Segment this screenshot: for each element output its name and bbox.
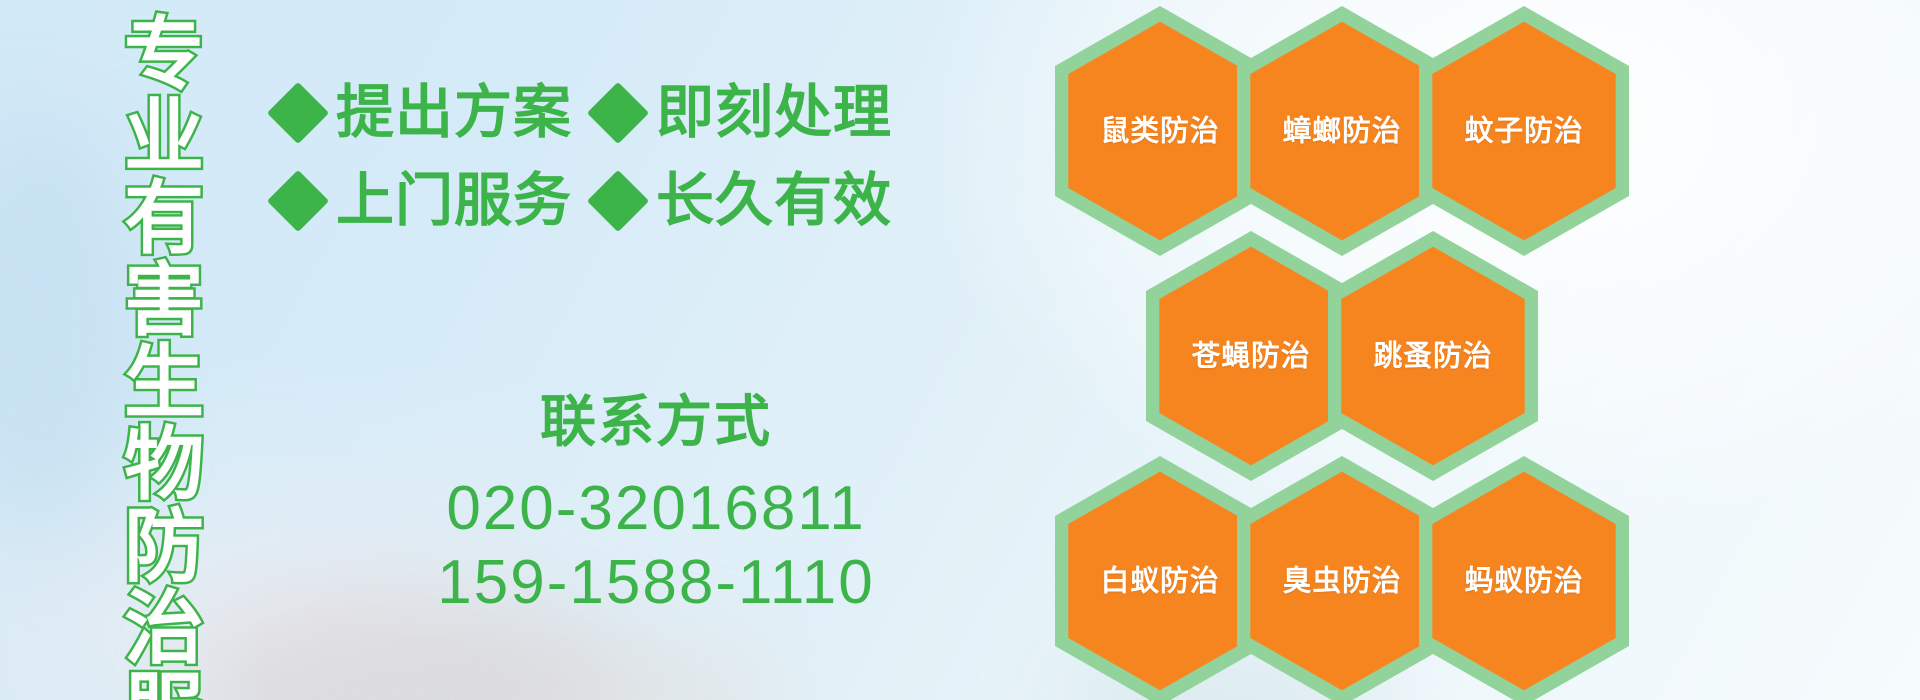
vertical-headline-char: 害 bbox=[124, 260, 204, 342]
vertical-headline-char: 专 bbox=[124, 14, 204, 96]
background-blur-bottom-center bbox=[520, 640, 780, 700]
hex-cell-fly[interactable]: 苍蝇防治 bbox=[1146, 231, 1356, 481]
diamond-icon bbox=[267, 82, 329, 144]
vertical-headline-char: 防 bbox=[124, 506, 204, 588]
hex-cell-rodent[interactable]: 鼠类防治 bbox=[1055, 6, 1265, 256]
hex-label: 蟑螂防治 bbox=[1283, 115, 1402, 147]
hex-cell-mosquito[interactable]: 蚊子防治 bbox=[1419, 6, 1629, 256]
hex-cell-bedbug[interactable]: 臭虫防治 bbox=[1237, 456, 1447, 700]
feature-label: 长久有效 bbox=[656, 170, 892, 232]
feature-row: 提出方案 即刻处理 bbox=[276, 82, 1036, 144]
promo-banner: 专 业 有 害 生 物 防 治 服 务 提出方案 即刻处理 上门服务 bbox=[0, 0, 1920, 700]
feature-row: 上门服务 长久有效 bbox=[276, 170, 1036, 232]
vertical-headline: 专 业 有 害 生 物 防 治 服 务 bbox=[112, 14, 216, 686]
diamond-icon bbox=[587, 82, 649, 144]
hex-cell-ant[interactable]: 蚂蚁防治 bbox=[1419, 456, 1629, 700]
hex-cell-cockroach[interactable]: 蟑螂防治 bbox=[1237, 6, 1447, 256]
contact-heading: 联系方式 bbox=[276, 390, 1036, 454]
feature-list: 提出方案 即刻处理 上门服务 长久有效 bbox=[276, 82, 1036, 258]
vertical-headline-char: 业 bbox=[124, 96, 204, 178]
contact-phone-mobile[interactable]: 159-1588-1110 bbox=[276, 546, 1036, 620]
feature-label: 即刻处理 bbox=[656, 82, 892, 144]
vertical-headline-char: 服 bbox=[124, 670, 204, 700]
hex-label: 蚊子防治 bbox=[1465, 115, 1584, 147]
hex-label: 白蚁防治 bbox=[1101, 565, 1220, 597]
feature-label: 提出方案 bbox=[336, 82, 572, 144]
vertical-headline-char: 有 bbox=[124, 178, 204, 260]
contact-phone-landline[interactable]: 020-32016811 bbox=[276, 472, 1036, 546]
contact-block: 联系方式 020-32016811 159-1588-1110 bbox=[276, 390, 1036, 620]
hex-label: 苍蝇防治 bbox=[1192, 340, 1311, 372]
diamond-icon bbox=[587, 170, 649, 232]
feature-item: 长久有效 bbox=[596, 170, 892, 232]
feature-item: 即刻处理 bbox=[596, 82, 892, 144]
feature-item: 提出方案 bbox=[276, 82, 572, 144]
hex-label: 臭虫防治 bbox=[1283, 565, 1402, 597]
diamond-icon bbox=[267, 170, 329, 232]
hex-label: 蚂蚁防治 bbox=[1465, 565, 1584, 597]
vertical-headline-char: 治 bbox=[124, 588, 204, 670]
vertical-headline-char: 物 bbox=[124, 424, 204, 506]
service-hex-grid: 鼠类防治 蟑螂防治 蚊子防治 苍蝇防治 跳蚤防治 bbox=[1055, 0, 1920, 700]
feature-label: 上门服务 bbox=[336, 170, 572, 232]
hex-label: 鼠类防治 bbox=[1101, 115, 1220, 147]
hex-label: 跳蚤防治 bbox=[1374, 340, 1493, 372]
vertical-headline-char: 生 bbox=[124, 342, 204, 424]
hex-cell-flea[interactable]: 跳蚤防治 bbox=[1328, 231, 1538, 481]
feature-item: 上门服务 bbox=[276, 170, 572, 232]
hex-cell-termite[interactable]: 白蚁防治 bbox=[1055, 456, 1265, 700]
